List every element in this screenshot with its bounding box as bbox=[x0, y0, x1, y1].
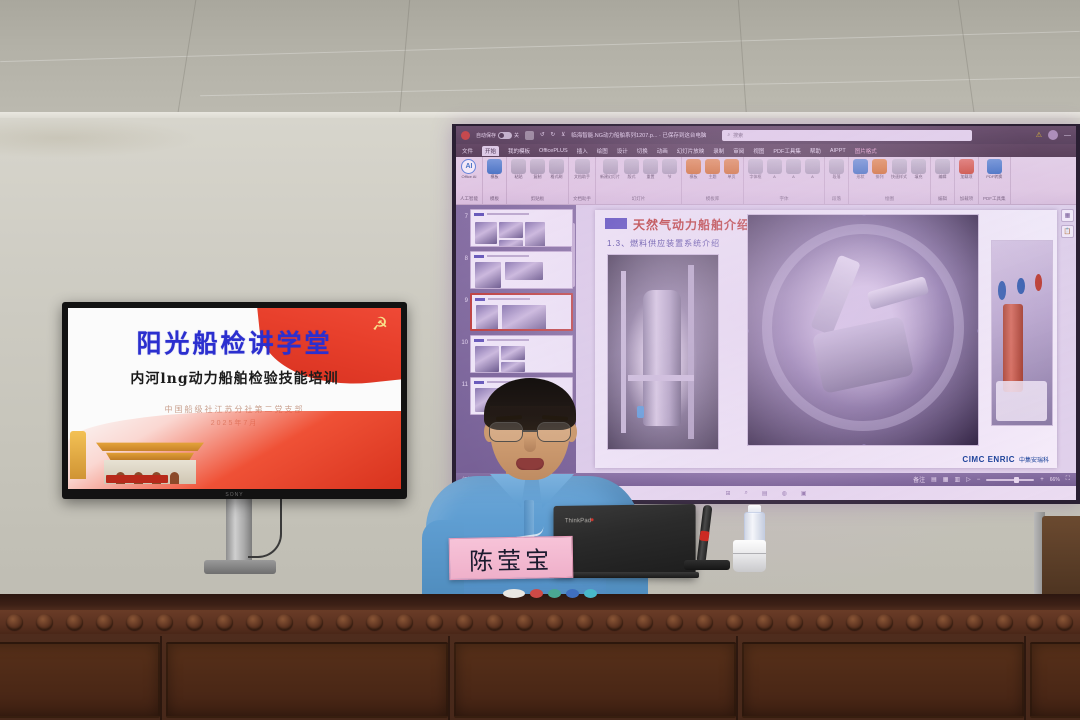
font-box-icon bbox=[748, 159, 763, 174]
arrange-button[interactable]: 排列 bbox=[872, 159, 887, 179]
ribbon-group-3: 文档助手文档助手 bbox=[569, 157, 596, 204]
tv-brand-label: SONY bbox=[225, 492, 243, 498]
podium-stud bbox=[636, 614, 653, 630]
podium-stud bbox=[846, 614, 863, 630]
podium-stud bbox=[996, 614, 1013, 630]
autosave-state: 关 bbox=[514, 132, 519, 139]
ribbon-tab-9[interactable]: 幻灯片放映 bbox=[677, 147, 705, 155]
podium-stud bbox=[876, 614, 893, 630]
warning-icon[interactable]: ⚠ bbox=[1036, 131, 1042, 139]
cimc-enric-logo: CIMC ENRIC 中集安瑞科 bbox=[962, 455, 1049, 464]
ribbon-group-label: 模板 bbox=[490, 196, 499, 202]
new-slide-button[interactable]: 新建幻灯片 bbox=[600, 159, 620, 179]
shapes-button[interactable]: 形状 bbox=[853, 159, 868, 179]
ribbon-item-label: Office AI bbox=[461, 175, 476, 179]
podium-stud bbox=[726, 614, 743, 630]
ribbon-item-label: 新建幻灯片 bbox=[600, 175, 620, 179]
slide-thumbnail-9[interactable] bbox=[470, 293, 573, 331]
gauge-panel-photo[interactable] bbox=[991, 240, 1053, 426]
ribbon-item-label: 模板 bbox=[491, 175, 499, 179]
ribbon-group-4: 新建幻灯片版式重置节幻灯片 bbox=[596, 157, 682, 204]
zoom-in-icon[interactable]: + bbox=[1040, 477, 1044, 483]
podium-stud bbox=[666, 614, 683, 630]
ribbon-tab-7[interactable]: 切换 bbox=[637, 147, 648, 155]
thumbnail-image bbox=[475, 262, 501, 288]
ribbon-tab-12[interactable]: 视图 bbox=[753, 147, 764, 155]
podium-stud bbox=[1026, 614, 1043, 630]
ribbon-item-label: A bbox=[773, 175, 776, 179]
slide-thumbnail-7[interactable] bbox=[470, 209, 573, 247]
thumbnail-number: 8 bbox=[459, 251, 468, 262]
ribbon-item-label: 形状 bbox=[857, 175, 865, 179]
redo-icon[interactable]: ↻ bbox=[551, 132, 556, 138]
podium-stud bbox=[516, 614, 533, 630]
format-painter-button[interactable]: 格式刷 bbox=[549, 159, 564, 179]
search-edit-button[interactable]: 编辑 bbox=[935, 159, 950, 179]
thumbnail-image bbox=[475, 222, 497, 244]
ribbon-tab-2[interactable]: 我的模板 bbox=[508, 147, 530, 155]
library-template-icon bbox=[686, 159, 701, 174]
desk-sticker-blue bbox=[566, 589, 579, 598]
app-icon bbox=[461, 131, 470, 140]
slide-subtitle: 1.3、燃料供应装置系统介绍 bbox=[607, 238, 720, 249]
ribbon-item-label: 单页 bbox=[728, 175, 736, 179]
thumbnail-row[interactable]: 7 bbox=[456, 207, 576, 249]
podium-panels bbox=[0, 636, 1080, 720]
tv-slide-title: 阳光船检讲学堂 bbox=[68, 324, 401, 360]
clear-format-button[interactable]: A bbox=[805, 159, 820, 179]
slide-thumbnail-8[interactable] bbox=[470, 251, 573, 289]
tank-interior-inspection-photo[interactable] bbox=[747, 214, 979, 446]
ribbon-group-2: 粘贴复制格式刷剪贴板 bbox=[507, 157, 569, 204]
slide-thumbnail-10[interactable] bbox=[470, 335, 573, 373]
thumbnail-row[interactable]: 9 bbox=[456, 291, 576, 333]
ribbon-tab-3[interactable]: OfficePLUS bbox=[539, 148, 568, 154]
podium-stud bbox=[366, 614, 383, 630]
ribbon-tab-5[interactable]: 绘图 bbox=[597, 147, 608, 155]
ribbon-group-5: 模板主题单页模板库 bbox=[682, 157, 744, 204]
gate-banner bbox=[106, 475, 168, 483]
ribbon-group-7: 段落段落 bbox=[825, 157, 849, 204]
layout-icon bbox=[624, 159, 639, 174]
taskbar-search-icon[interactable]: ⌕ bbox=[745, 490, 748, 497]
copy-icon bbox=[530, 159, 545, 174]
slide-title: 天然气动力船舶介绍 bbox=[633, 216, 750, 233]
ribbon-item-label: 快速样式 bbox=[891, 175, 907, 179]
slide-side-tools: ▦ 📋 bbox=[1061, 209, 1074, 238]
podium-stud bbox=[696, 614, 713, 630]
sony-television: ☭ 阳光船检讲学堂 内河lng动力船舶检验技能培训 中国船级社江苏分社第二党支部… bbox=[62, 302, 407, 499]
ribbon-group-11: PDF转换PDF工具集 bbox=[979, 157, 1011, 204]
paste-options-icon[interactable]: 📋 bbox=[1061, 225, 1074, 238]
ribbon-tab-16[interactable]: 图片格式 bbox=[855, 147, 877, 155]
decrease-font-button[interactable]: A bbox=[786, 159, 801, 179]
thumbnail-row[interactable]: 10 bbox=[456, 333, 576, 375]
section-icon bbox=[662, 159, 677, 174]
podium-stud bbox=[606, 614, 623, 630]
single-page-button[interactable]: 单页 bbox=[724, 159, 739, 179]
ppt-document-name[interactable]: 临海智能.NG动力船舶系列1207.p... · 已保存到这台电脑 bbox=[571, 131, 706, 139]
template-icon bbox=[487, 159, 502, 174]
slideshow-icon[interactable]: ▷ bbox=[966, 476, 971, 483]
podium-stud bbox=[216, 614, 233, 630]
autosave-label: 自动保存 bbox=[476, 132, 496, 139]
ribbon-group-label: 文档助手 bbox=[573, 196, 591, 202]
podium-stud bbox=[276, 614, 293, 630]
current-slide[interactable]: 天然气动力船舶介绍 1.3、燃料供应装置系统介绍 燃料供应装置在LNG燃料动力船… bbox=[595, 210, 1057, 468]
thumbnail-number: 9 bbox=[459, 293, 468, 304]
ribbon-group-8: 形状排列快速样式填充绘图 bbox=[849, 157, 931, 204]
minimize-icon[interactable]: — bbox=[1064, 132, 1071, 139]
podium-stud bbox=[756, 614, 773, 630]
paragraph-icon bbox=[829, 159, 844, 174]
zoom-level-label[interactable]: 66% bbox=[1050, 477, 1060, 483]
tv-cable bbox=[248, 492, 282, 558]
ribbon-item-label: 字体框 bbox=[750, 175, 762, 179]
ribbon-tab-11[interactable]: 审阅 bbox=[733, 147, 744, 155]
podium-seam bbox=[736, 636, 738, 720]
account-avatar-icon[interactable] bbox=[1048, 130, 1058, 140]
normal-view-icon[interactable]: ▤ bbox=[931, 476, 937, 483]
desk-sticker-teal bbox=[584, 589, 597, 598]
podium-stud bbox=[1056, 614, 1073, 630]
pdf-convert-icon bbox=[987, 159, 1002, 174]
ribbon-group-1: 模板模板 bbox=[483, 157, 507, 204]
podium-stud bbox=[486, 614, 503, 630]
search-edit-icon bbox=[935, 159, 950, 174]
podium-stud bbox=[306, 614, 323, 630]
slide-editing-area[interactable]: 天然气动力船舶介绍 1.3、燃料供应装置系统介绍 燃料供应装置在LNG燃料动力船… bbox=[576, 205, 1076, 473]
ribbon-item-label: 文档助手 bbox=[574, 175, 590, 179]
ribbon-group-label: 人工智能 bbox=[460, 196, 478, 202]
podium-stud bbox=[396, 614, 413, 630]
font-box-button[interactable]: 字体框 bbox=[748, 159, 763, 179]
template-button[interactable]: 模板 bbox=[487, 159, 502, 179]
layout-options-icon[interactable]: ▦ bbox=[1061, 209, 1074, 222]
ribbon-item-label: 填充 bbox=[915, 175, 923, 179]
ribbon-tab-10[interactable]: 录制 bbox=[713, 147, 724, 155]
notes-button[interactable]: 备注 bbox=[913, 475, 925, 484]
ribbon-group-label: PDF工具集 bbox=[983, 196, 1006, 202]
desk-sticker-white bbox=[503, 589, 525, 598]
ribbon-group-9: 编辑编辑 bbox=[931, 157, 955, 204]
podium-stud bbox=[456, 614, 473, 630]
podium-stud bbox=[906, 614, 923, 630]
podium-stud bbox=[36, 614, 53, 630]
paste-icon bbox=[511, 159, 526, 174]
fit-to-window-icon[interactable]: ⛶ bbox=[1066, 476, 1070, 483]
pdf-convert-button[interactable]: PDF转换 bbox=[986, 159, 1002, 179]
format-painter-icon bbox=[549, 159, 564, 174]
podium-stud bbox=[546, 614, 563, 630]
office-ai-icon: AI bbox=[461, 159, 476, 174]
podium-stud bbox=[816, 614, 833, 630]
autosave-switch[interactable] bbox=[498, 132, 512, 139]
ribbon-group-label: 加载项 bbox=[960, 196, 974, 202]
mouth bbox=[516, 458, 544, 470]
thumbnail-image bbox=[505, 262, 543, 280]
ppt-search-box[interactable]: ⌕ 搜索 bbox=[722, 130, 972, 141]
thumbnail-image bbox=[475, 346, 499, 372]
podium-seam bbox=[1024, 636, 1026, 720]
taskbar-start-icon[interactable]: ⊞ bbox=[726, 490, 731, 497]
thumbnail-number: 7 bbox=[459, 209, 468, 220]
thumbnail-number: 10 bbox=[459, 335, 468, 346]
ribbon-item-label: A bbox=[792, 175, 795, 179]
thumbnail-image bbox=[499, 222, 523, 238]
ppt-ribbon-tabs: 文件开始我的模板OfficePLUS插入绘图设计切换动画幻灯片放映录制审阅视图P… bbox=[456, 144, 1076, 157]
training-room-photo: ☭ 阳光船检讲学堂 内河lng动力船舶检验技能培训 中国船级社江苏分社第二党支部… bbox=[0, 0, 1080, 720]
quick-styles-icon bbox=[892, 159, 907, 174]
ribbon-group-0: AIOffice AI人工智能 bbox=[456, 157, 483, 204]
ribbon-item-label: 模板 bbox=[690, 175, 698, 179]
podium-stud bbox=[156, 614, 173, 630]
ribbon-tab-15[interactable]: AIPPT bbox=[830, 148, 846, 154]
podium-seam bbox=[160, 636, 162, 720]
ribbon-item-label: 加载项 bbox=[961, 175, 973, 179]
desk-stickers bbox=[503, 589, 597, 598]
thumbnail-row[interactable]: 8 bbox=[456, 249, 576, 291]
ribbon-item-label: 格式刷 bbox=[551, 175, 563, 179]
section-button[interactable]: 节 bbox=[662, 159, 677, 179]
autosave-toggle[interactable]: 自动保存 关 bbox=[476, 132, 519, 139]
podium-stud bbox=[426, 614, 443, 630]
microphone-base bbox=[684, 560, 730, 570]
thumbnail-image bbox=[501, 346, 525, 360]
ribbon-group-label: 编辑 bbox=[938, 196, 947, 202]
title-accent-bar bbox=[605, 218, 627, 229]
increase-font-button[interactable]: A bbox=[767, 159, 782, 179]
paper-cup bbox=[733, 540, 766, 572]
tv-stand-base bbox=[204, 560, 276, 574]
podium-stud bbox=[936, 614, 953, 630]
tv-slide-subtitle: 内河lng动力船舶检验技能培训 bbox=[68, 368, 401, 388]
ribbon-group-label: 模板库 bbox=[706, 196, 720, 202]
ribbon-item-label: PDF转换 bbox=[986, 175, 1002, 179]
fill-icon bbox=[911, 159, 926, 174]
layout-button[interactable]: 版式 bbox=[624, 159, 639, 179]
ribbon-item-label: 编辑 bbox=[939, 175, 947, 179]
ribbon-item-label: 复制 bbox=[534, 175, 542, 179]
decrease-font-icon bbox=[786, 159, 801, 174]
name-card-text: 陈莹宝 bbox=[469, 540, 554, 576]
ribbon-tab-8[interactable]: 动画 bbox=[657, 147, 668, 155]
thinkpad-logo-dot bbox=[591, 518, 594, 521]
chair bbox=[1042, 516, 1080, 600]
ribbon-item-label: 重置 bbox=[647, 175, 655, 179]
taskbar-ppt-icon[interactable]: ▣ bbox=[801, 490, 807, 497]
office-ai-button[interactable]: AIOffice AI bbox=[461, 159, 476, 179]
clear-format-icon bbox=[805, 159, 820, 174]
podium-stud bbox=[786, 614, 803, 630]
sorter-view-icon[interactable]: ▦ bbox=[943, 476, 949, 483]
addins-icon bbox=[959, 159, 974, 174]
ribbon-group-label: 段落 bbox=[832, 196, 841, 202]
ribbon-item-label: A bbox=[811, 175, 814, 179]
ribbon-item-label: 粘贴 bbox=[515, 175, 523, 179]
ribbon-tab-1[interactable]: 开始 bbox=[482, 146, 499, 156]
podium-stud bbox=[6, 614, 23, 630]
zoom-out-icon[interactable]: − bbox=[977, 477, 981, 483]
ribbon-tab-6[interactable]: 设计 bbox=[617, 147, 628, 155]
ribbon-tab-13[interactable]: PDF工具集 bbox=[773, 147, 801, 155]
thinkpad-laptop[interactable]: ThinkPad bbox=[554, 504, 696, 576]
thumbnail-image bbox=[525, 222, 545, 247]
ribbon-group-label: 字体 bbox=[780, 196, 789, 202]
ribbon-item-label: 主题 bbox=[709, 175, 717, 179]
podium-stud bbox=[576, 614, 593, 630]
search-placeholder: 搜索 bbox=[733, 132, 743, 139]
ribbon-item-label: 段落 bbox=[833, 175, 841, 179]
tv-screen: ☭ 阳光船检讲学堂 内河lng动力船舶检验技能培训 中国船级社江苏分社第二党支部… bbox=[68, 308, 401, 489]
taskbar-files-icon[interactable]: ▤ bbox=[762, 490, 768, 497]
podium-stud-rail bbox=[0, 610, 1080, 634]
name-card: 陈莹宝 bbox=[449, 536, 574, 580]
copy-button[interactable]: 复制 bbox=[530, 159, 545, 179]
ribbon-group-label: 幻灯片 bbox=[632, 196, 646, 202]
thumbnail-image bbox=[502, 305, 546, 331]
new-slide-icon bbox=[603, 159, 618, 174]
theme-icon bbox=[705, 159, 720, 174]
ribbon-item-label: 节 bbox=[668, 175, 672, 179]
ribbon-group-10: 加载项加载项 bbox=[955, 157, 979, 204]
ppt-ribbon: AIOffice AI人工智能模板模板粘贴复制格式刷剪贴板文档助手文档助手新建幻… bbox=[456, 157, 1076, 205]
undo-icon[interactable]: ↺ bbox=[540, 132, 545, 138]
podium-stud bbox=[966, 614, 983, 630]
reading-view-icon[interactable]: ▥ bbox=[954, 476, 960, 483]
ribbon-group-label: 剪贴板 bbox=[531, 196, 545, 202]
logo-cn-text: 中集安瑞科 bbox=[1019, 455, 1049, 464]
zoom-slider[interactable] bbox=[986, 479, 1034, 481]
ribbon-group-label: 绘图 bbox=[885, 196, 894, 202]
logo-en-text: CIMC ENRIC bbox=[962, 455, 1015, 464]
cup-rim-line bbox=[733, 553, 766, 554]
podium-seam bbox=[448, 636, 450, 720]
podium-stud bbox=[186, 614, 203, 630]
podium-stud bbox=[126, 614, 143, 630]
present-icon[interactable]: ⊻ bbox=[561, 132, 565, 138]
microphone-indicator bbox=[699, 530, 709, 541]
ribbon-group-6: 字体框AAA字体 bbox=[744, 157, 825, 204]
ribbon-item-label: 版式 bbox=[628, 175, 636, 179]
library-template-button[interactable]: 模板 bbox=[686, 159, 701, 179]
paragraph-button[interactable]: 段落 bbox=[829, 159, 844, 179]
increase-font-icon bbox=[767, 159, 782, 174]
reset-icon bbox=[643, 159, 658, 174]
ppt-title-bar: 自动保存 关 ↺ ↻ ⊻ 临海智能.NG动力船舶系列1207.p... · 已保… bbox=[456, 126, 1076, 144]
podium-stud bbox=[336, 614, 353, 630]
podium-stud bbox=[96, 614, 113, 630]
addins-button[interactable]: 加载项 bbox=[959, 159, 974, 179]
thinkpad-logo: ThinkPad bbox=[565, 518, 592, 524]
nose bbox=[524, 436, 536, 452]
single-page-icon bbox=[724, 159, 739, 174]
ribbon-tab-14[interactable]: 帮助 bbox=[810, 147, 821, 155]
thumbnail-image bbox=[499, 240, 523, 247]
search-icon: ⌕ bbox=[727, 132, 730, 138]
ribbon-tab-0[interactable]: 文件 bbox=[462, 147, 473, 155]
doc-assistant-button[interactable]: 文档助手 bbox=[574, 159, 590, 179]
save-icon[interactable] bbox=[525, 131, 534, 140]
huabiao-column-graphic bbox=[70, 431, 86, 479]
podium-stud bbox=[246, 614, 263, 630]
paste-button[interactable]: 粘贴 bbox=[511, 159, 526, 179]
ribbon-item-label: 排列 bbox=[876, 175, 884, 179]
thumbnail-image bbox=[476, 305, 498, 331]
desk-sticker-red bbox=[530, 589, 543, 598]
arrange-icon bbox=[872, 159, 887, 174]
shapes-icon bbox=[853, 159, 868, 174]
desk-sticker-green bbox=[548, 589, 561, 598]
fill-button[interactable]: 填充 bbox=[911, 159, 926, 179]
wall-stain bbox=[0, 118, 200, 158]
theme-button[interactable]: 主题 bbox=[705, 159, 720, 179]
quick-styles-button[interactable]: 快速样式 bbox=[891, 159, 907, 179]
ceiling bbox=[0, 0, 1080, 118]
reset-button[interactable]: 重置 bbox=[643, 159, 658, 179]
taskbar-browser-icon[interactable]: ◍ bbox=[782, 490, 787, 497]
podium-stud bbox=[66, 614, 83, 630]
doc-assistant-icon bbox=[575, 159, 590, 174]
ribbon-tab-4[interactable]: 插入 bbox=[577, 147, 588, 155]
